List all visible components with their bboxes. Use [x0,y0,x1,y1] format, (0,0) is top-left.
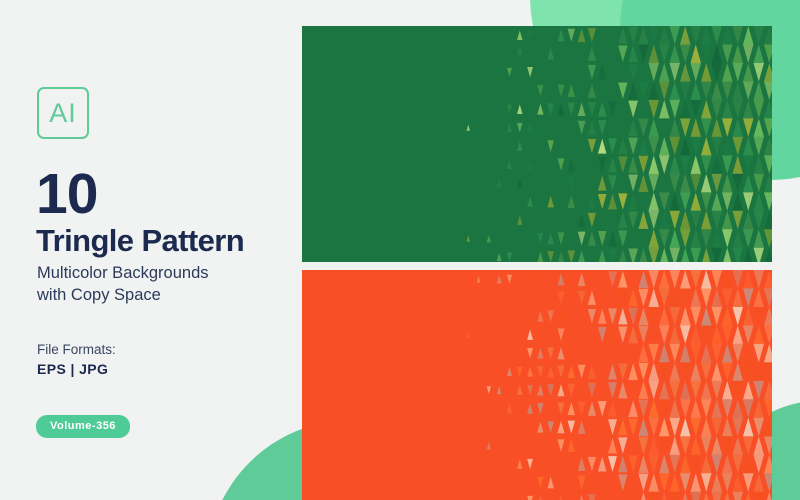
file-formats-label: File Formats: [37,342,116,357]
adobe-illustrator-icon: AI [37,87,89,139]
file-formats-value: EPS | JPG [37,361,108,377]
ai-badge-label: AI [49,100,77,127]
preview-orange-triangle-pattern[interactable] [302,270,772,500]
item-count: 10 [36,166,97,223]
volume-badge: Volume-356 [36,415,130,438]
page-title: Tringle Pattern [36,224,244,258]
preview-green-triangle-pattern[interactable] [302,26,772,262]
poster-canvas: AI 10 Tringle Pattern Multicolor Backgro… [0,0,800,500]
orange-pattern-graphic [302,270,772,500]
green-pattern-graphic [302,26,772,262]
page-subtitle: Multicolor Backgroundswith Copy Space [37,263,287,307]
info-column: AI 10 Tringle Pattern Multicolor Backgro… [36,0,296,500]
